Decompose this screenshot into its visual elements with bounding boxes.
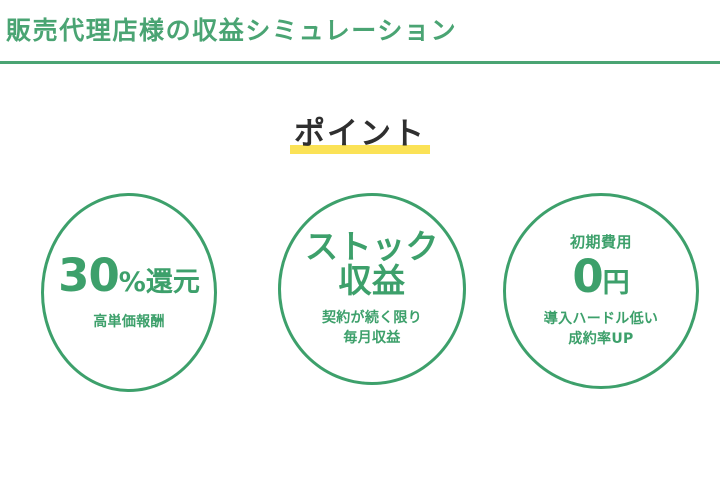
point-subtext: 高単価報酬 bbox=[93, 312, 165, 332]
section-heading-wrapper: ポイント bbox=[290, 114, 430, 154]
point-subtext-line-1: 高単価報酬 bbox=[93, 312, 165, 332]
section-heading-label: ポイント bbox=[294, 116, 426, 152]
point-headline: 0円 bbox=[572, 254, 629, 300]
point-headline-big: 0 bbox=[572, 250, 602, 303]
point-headline-big: 30 bbox=[58, 249, 119, 302]
point-headline-line-2: 収益 bbox=[339, 264, 406, 298]
point-headline: 30%還元 bbox=[58, 253, 200, 299]
header-divider bbox=[0, 61, 720, 64]
point-subtext-line-2: 毎月収益 bbox=[322, 328, 422, 348]
page-title: 販売代理店様の収益シミュレーション bbox=[6, 14, 457, 48]
point-subtext: 契約が続く限り 毎月収益 bbox=[322, 308, 422, 348]
point-subtext-line-1: 導入ハードル低い bbox=[544, 309, 658, 329]
point-subtext-line-1: 契約が続く限り bbox=[322, 308, 422, 328]
point-circle-rate: 30%還元 高単価報酬 bbox=[41, 193, 217, 392]
points-row: 30%還元 高単価報酬 ストック 収益 契約が続く限り 毎月収益 初期費用 0円… bbox=[0, 193, 720, 393]
point-headline-med: 円 bbox=[603, 268, 630, 299]
point-subtext-line-2: 成約率UP bbox=[544, 329, 658, 349]
page-header: 販売代理店様の収益シミュレーション bbox=[0, 0, 720, 64]
point-circle-stock-revenue: ストック 収益 契約が続く限り 毎月収益 bbox=[278, 193, 466, 385]
point-subtext: 導入ハードル低い 成約率UP bbox=[544, 309, 658, 349]
point-headline-line-1: ストック bbox=[305, 230, 439, 264]
point-circle-initial-cost: 初期費用 0円 導入ハードル低い 成約率UP bbox=[503, 193, 699, 389]
point-headline-med: %還元 bbox=[119, 267, 200, 298]
section-heading: ポイント bbox=[0, 114, 720, 160]
